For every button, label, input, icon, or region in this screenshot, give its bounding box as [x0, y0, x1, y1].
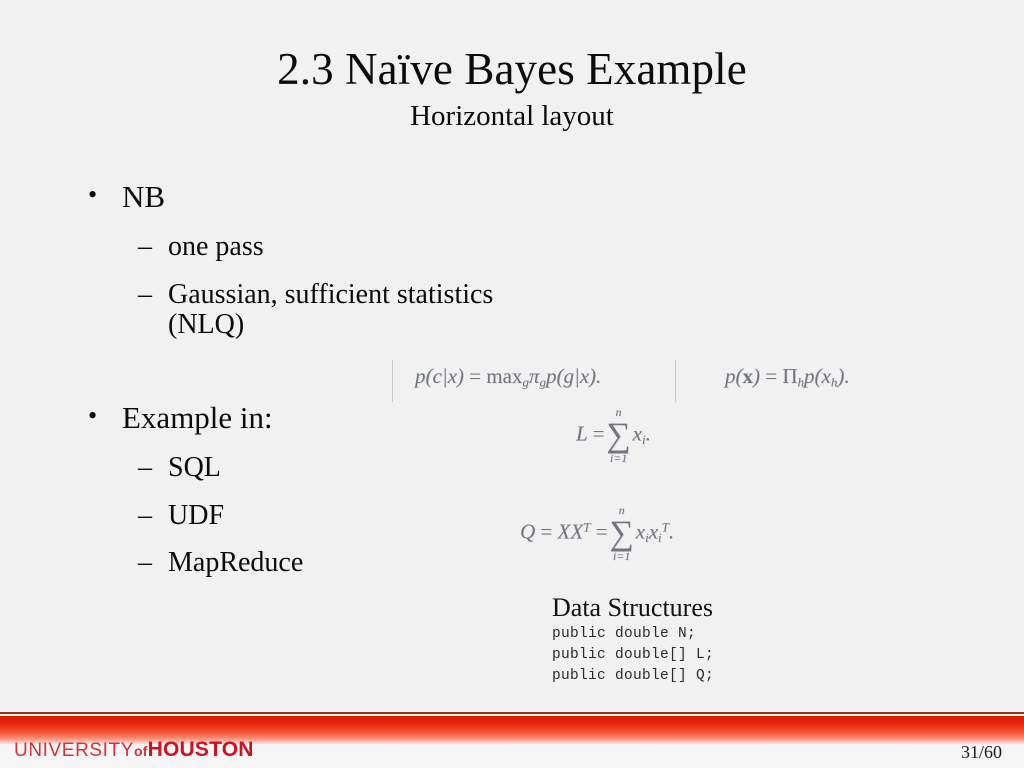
- sub-bullet-label: Gaussian, sufficient statistics (NLQ): [168, 279, 493, 341]
- bullet-label-example-in: Example in:: [122, 400, 273, 435]
- sub-bullet-label: MapReduce: [168, 547, 303, 578]
- equation-independence: p(x) = Πhp(xh).: [725, 364, 850, 391]
- code-line: public double N;: [552, 624, 882, 645]
- page-subtitle: Horizontal layout: [0, 100, 1024, 133]
- equation-quadratic-sum: Q = XXT =n∑i=1xixiT.: [520, 518, 674, 549]
- equation-linear-sum: L =n∑i=1xi.: [576, 420, 651, 451]
- dash-marker-icon: –: [138, 232, 152, 263]
- logo-text-of: of: [134, 743, 148, 759]
- bullet-item-example-in: • Example in:: [78, 401, 548, 436]
- bullet-dot-icon: •: [88, 400, 97, 433]
- title-block: 2.3 Naïve Bayes Example Horizontal layou…: [0, 46, 1024, 133]
- code-line: public double[] Q;: [552, 666, 882, 687]
- sub-bullet-sql: – SQL: [78, 453, 548, 484]
- data-structures-title: Data Structures: [552, 594, 882, 622]
- bullet-label-nb: NB: [122, 179, 165, 214]
- bullet-group-example: • Example in: – SQL – UDF – MapReduce: [78, 401, 548, 579]
- equation-panel: p(c|x) = maxgπgp(g|x). p(x) = Πhp(xh). L…: [380, 358, 980, 404]
- page-number: 31/60: [961, 742, 1002, 763]
- data-structures-block: Data Structures public double N; public …: [552, 594, 882, 687]
- university-of-houston-logo: UNIVERSITYofHOUSTON: [14, 738, 254, 762]
- page-title: 2.3 Naïve Bayes Example: [0, 46, 1024, 94]
- dash-marker-icon: –: [138, 453, 152, 484]
- dash-marker-icon: –: [138, 501, 152, 532]
- equation-row-top: p(c|x) = maxgπgp(g|x). p(x) = Πhp(xh).: [380, 358, 980, 404]
- vertical-divider: [675, 360, 676, 402]
- dash-marker-icon: –: [138, 548, 152, 579]
- vertical-divider: [392, 360, 393, 402]
- dash-marker-icon: –: [138, 280, 152, 311]
- sub-bullet-label: one pass: [168, 231, 264, 262]
- sub-bullet-one-pass: – one pass: [78, 232, 548, 263]
- sub-bullet-label: UDF: [168, 500, 224, 531]
- bullet-item-nb: • NB: [78, 180, 548, 215]
- logo-text-houston: HOUSTON: [148, 738, 254, 761]
- sub-bullet-gaussian: – Gaussian, sufficient statistics (NLQ): [78, 280, 548, 342]
- logo-text-university: UNIVERSITY: [14, 740, 134, 761]
- sub-bullet-label: SQL: [168, 452, 221, 483]
- slide-canvas: 2.3 Naïve Bayes Example Horizontal layou…: [0, 0, 1024, 768]
- sub-bullet-mapreduce: – MapReduce: [78, 548, 548, 579]
- equation-conditional-probability: p(c|x) = maxgπgp(g|x).: [415, 364, 601, 391]
- bullet-dot-icon: •: [88, 179, 97, 212]
- bullet-group-nb: • NB – one pass – Gaussian, sufficient s…: [78, 180, 548, 341]
- sub-bullet-udf: – UDF: [78, 501, 548, 532]
- footer-hairline: [0, 712, 1024, 714]
- code-line: public double[] L;: [552, 645, 882, 666]
